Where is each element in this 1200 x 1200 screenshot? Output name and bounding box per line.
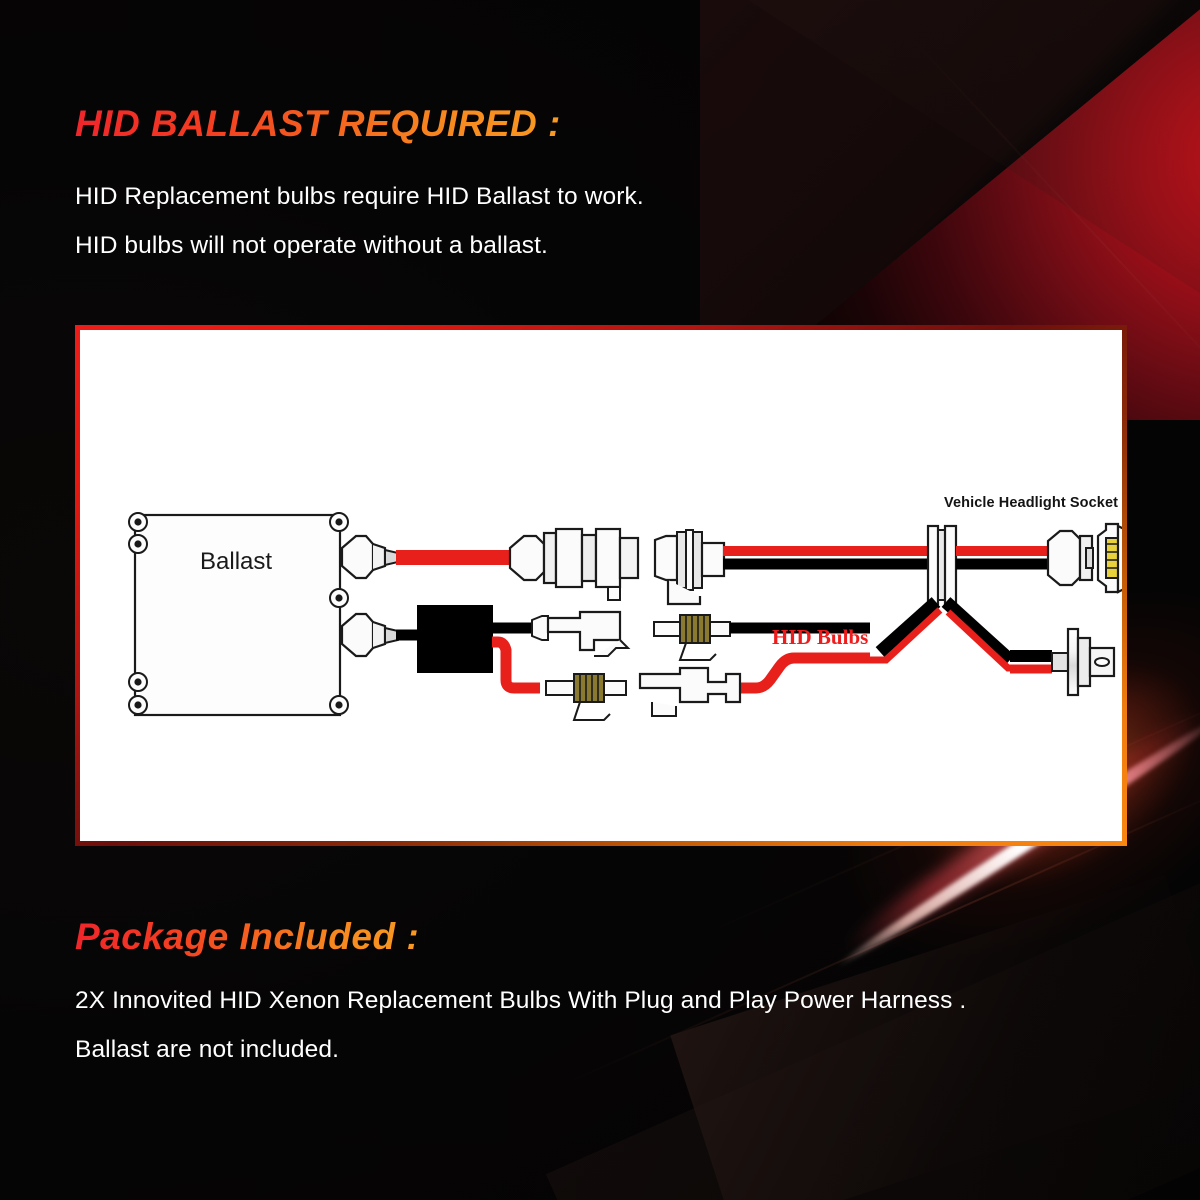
vehicle-headlight-socket-label: Vehicle Headlight Socket	[944, 495, 1118, 511]
heading-text: Package Included :	[75, 916, 419, 958]
section-heading-hid-ballast-required: HID BALLAST REQUIRED :	[75, 103, 561, 145]
body-text-line: HID bulbs will not operate without a bal…	[75, 232, 548, 260]
headlight-plug	[1048, 531, 1093, 585]
body-text-line: 2X Innovited HID Xenon Replacement Bulbs…	[75, 987, 966, 1015]
ballast-boot-upper	[342, 536, 398, 578]
power-connector-male	[510, 529, 638, 600]
hid-bulbs-label: HID Bulbs	[772, 625, 868, 650]
spade-connector-pair-upper	[532, 612, 730, 660]
wire-splitter	[928, 526, 956, 604]
spade-connector-pair-lower	[546, 668, 740, 720]
heading-text: HID BALLAST REQUIRED :	[75, 103, 561, 145]
body-text-line: HID Replacement bulbs require HID Ballas…	[75, 183, 644, 211]
body-text-line: Ballast are not included.	[75, 1036, 339, 1064]
hid-bulb	[1052, 629, 1114, 695]
wiring-diagram-canvas: Ballast Vehicle Headlight Socket HID Bul…	[80, 330, 1122, 841]
headlight-socket-connector	[1098, 524, 1122, 592]
ballast-box	[129, 513, 348, 715]
ballast-label: Ballast	[200, 548, 272, 576]
spring-contact	[574, 674, 604, 702]
wiring-diagram-illustration	[80, 330, 1122, 841]
section-heading-package-included: Package Included :	[75, 916, 419, 958]
relay-box	[418, 606, 492, 672]
ballast-boot-lower	[342, 614, 398, 656]
spring-contact	[680, 615, 710, 643]
power-connector-female	[655, 530, 724, 604]
wiring-diagram-frame: Ballast Vehicle Headlight Socket HID Bul…	[75, 325, 1127, 846]
